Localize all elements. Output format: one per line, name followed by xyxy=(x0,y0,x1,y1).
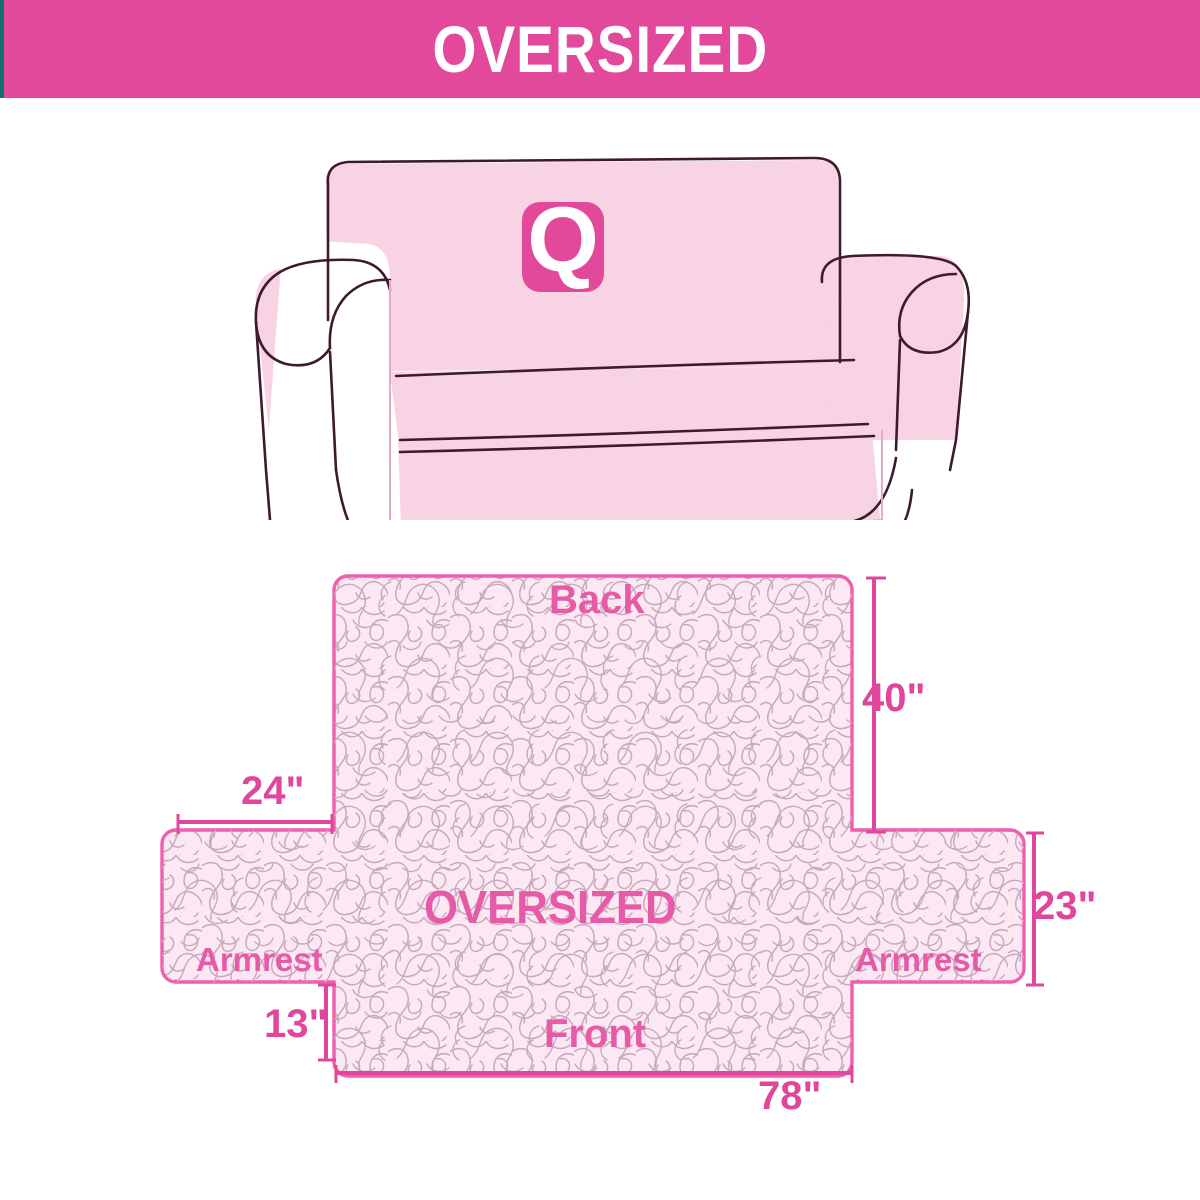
header-banner: OVERSIZED xyxy=(0,0,1200,98)
page-title: OVERSIZED xyxy=(432,16,768,82)
panel-label-armrest-right: Armrest xyxy=(855,943,982,976)
q-logo-badge: Q xyxy=(522,189,604,292)
dimension-label-front-drop: 13" xyxy=(264,1004,327,1044)
panel-label-back: Back xyxy=(549,580,645,620)
dimension-label-armrest-right-height: 23" xyxy=(1033,886,1096,926)
sofa-right-arm-fill xyxy=(822,256,964,440)
panel-label-armrest-left: Armrest xyxy=(196,943,323,976)
dimension-label-armrest-left-width: 24" xyxy=(241,771,304,811)
sofa-illustration: Q xyxy=(250,140,970,520)
dimension-label-total-width: 78" xyxy=(758,1076,821,1116)
panel-label-front: Front xyxy=(544,1014,646,1054)
panel-label-oversized: OVERSIZED xyxy=(424,884,677,930)
dimension-label-back-height: 40" xyxy=(862,678,925,718)
q-logo-letter: Q xyxy=(527,189,599,291)
